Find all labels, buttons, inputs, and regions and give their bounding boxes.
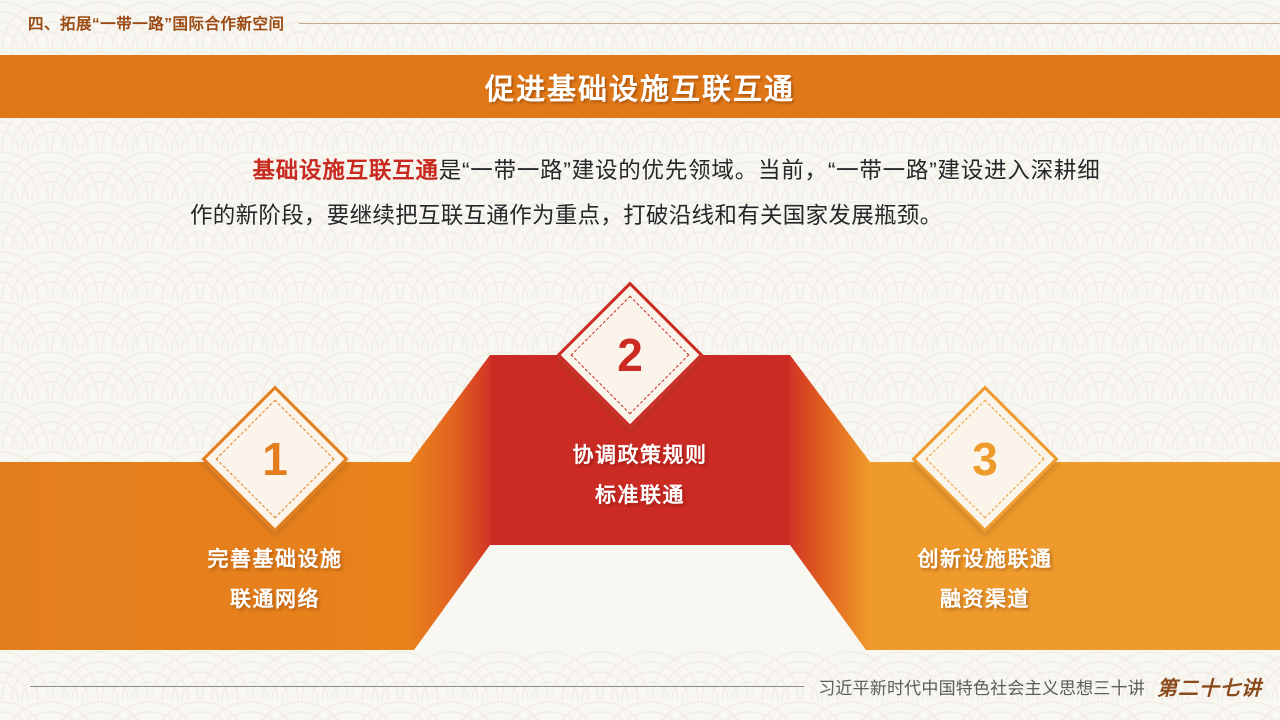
slide-header: 四、拓展“一带一路”国际合作新空间 [0,0,1280,46]
badge-2-number: 2 [581,306,679,404]
badge-1-number: 1 [226,410,324,508]
body-highlight-phrase: 基础设施互联互通 [252,158,439,183]
title-band: 促进基础设施互联互通 [0,55,1280,118]
slide-title: 促进基础设施互联互通 [485,66,795,108]
diagram-block-1-shape[interactable] [0,462,410,650]
section-kicker: 四、拓展“一带一路”国际合作新空间 [28,12,285,34]
badge-3-number: 3 [936,410,1034,508]
footer-divider-line [30,686,804,687]
slide-footer: 习近平新时代中国特色社会主义思想三十讲 第二十七讲 [0,666,1280,706]
header-divider-line [299,23,1280,24]
footer-series-title: 习近平新时代中国特色社会主义思想三十讲 [818,674,1145,699]
body-paragraph: 基础设施互联互通是“一带一路”建设的优先领域。当前，“一带一路”建设进入深耕细作… [190,148,1100,238]
footer-lecture-number: 第二十七讲 [1157,672,1262,701]
slide: 四、拓展“一带一路”国际合作新空间 促进基础设施互联互通 基础设施互联互通是“一… [0,0,1280,720]
diagram-center-notch [414,545,866,650]
diagram-block-3-shape[interactable] [870,462,1280,650]
